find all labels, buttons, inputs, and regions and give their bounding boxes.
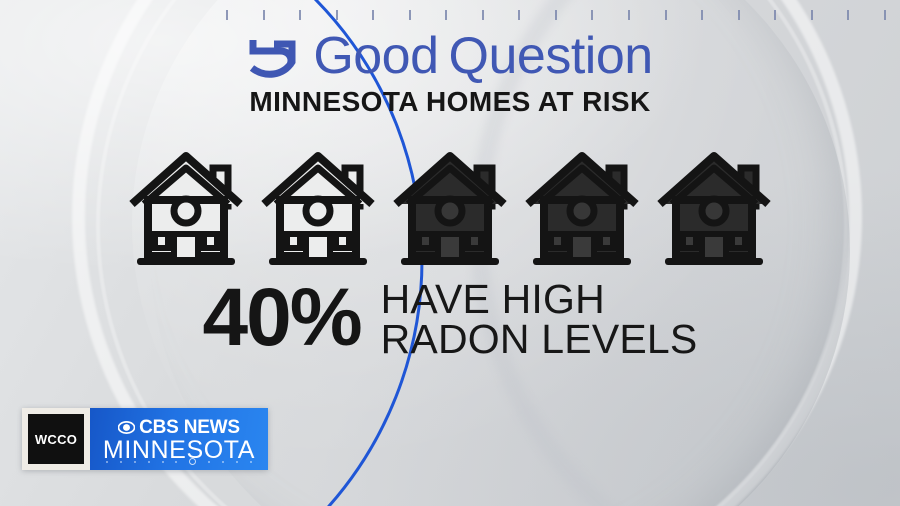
statistic-label-line2: RADON LEVELS — [381, 319, 698, 359]
cbs-dot — [222, 461, 224, 463]
cbs-dot — [208, 461, 210, 463]
ruler-tick — [263, 10, 265, 20]
cbs-dot — [134, 461, 136, 463]
ruler-tick — [811, 10, 813, 20]
house-icon — [256, 138, 380, 272]
statistic-value: 40% — [203, 277, 361, 359]
ruler-tick — [847, 10, 849, 20]
ruler-tick — [336, 10, 338, 20]
ruler-tick — [884, 10, 886, 20]
cbs-dot-center — [189, 458, 196, 465]
top-tick-ruler — [226, 6, 886, 20]
good-question-logo: GoodQuestion — [0, 30, 900, 82]
ruler-tick — [665, 10, 667, 20]
cbs-dot — [175, 461, 177, 463]
cbs-dot-ruler — [106, 458, 252, 465]
cbs-dot — [162, 461, 164, 463]
ruler-tick — [372, 10, 374, 20]
page-subheading: MINNESOTA HOMES AT RISK — [0, 88, 900, 116]
logo-word-good: Good — [313, 27, 438, 85]
ruler-tick — [226, 10, 228, 20]
cbs-dot — [236, 461, 238, 463]
house-icon — [124, 138, 248, 272]
ruler-tick — [774, 10, 776, 20]
statistic-label-line1: HAVE HIGH — [381, 279, 698, 319]
ruler-tick — [518, 10, 520, 20]
curved-arrow-up-right-icon — [247, 34, 299, 82]
house-icon — [388, 138, 512, 272]
statistic-block: 40% HAVE HIGH RADON LEVELS — [0, 276, 900, 359]
house-pictogram-row — [0, 138, 900, 272]
ruler-tick — [299, 10, 301, 20]
cbs-dot — [250, 461, 252, 463]
station-logo-bug: WCCO CBS NEWS MINNESOTA — [22, 408, 268, 470]
ruler-tick — [701, 10, 703, 20]
cbs-news-label: CBS NEWS — [139, 418, 240, 437]
wcco-label: WCCO — [35, 432, 77, 447]
ruler-tick — [555, 10, 557, 20]
ruler-tick — [482, 10, 484, 20]
ruler-tick — [591, 10, 593, 20]
broadcast-graphic: GoodQuestion MINNESOTA HOMES AT RISK — [0, 0, 900, 506]
ruler-tick — [628, 10, 630, 20]
ruler-tick — [738, 10, 740, 20]
logo-word-question: Question — [449, 27, 653, 85]
ruler-tick — [445, 10, 447, 20]
cbs-dot — [148, 461, 150, 463]
wcco-logo: WCCO — [22, 408, 90, 470]
cbs-dot — [106, 461, 108, 463]
statistic-label: HAVE HIGH RADON LEVELS — [381, 276, 698, 359]
cbs-eye-icon — [118, 421, 135, 434]
house-icon — [520, 138, 644, 272]
ruler-tick — [409, 10, 411, 20]
cbs-dot — [120, 461, 122, 463]
cbs-news-minnesota-logo: CBS NEWS MINNESOTA — [90, 408, 268, 470]
house-icon — [652, 138, 776, 272]
